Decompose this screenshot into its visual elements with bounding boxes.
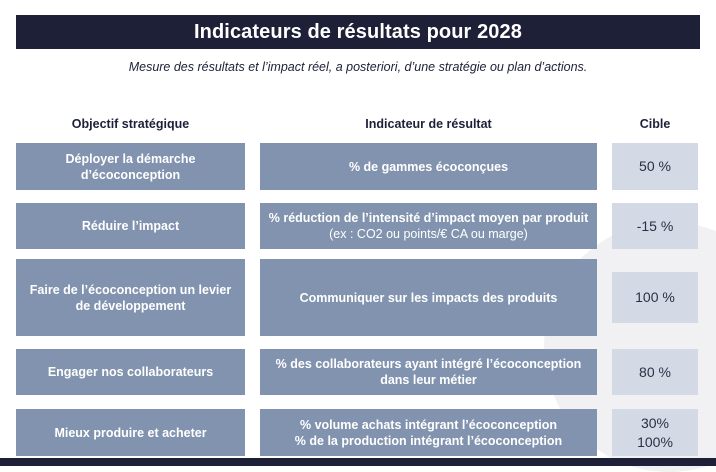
indicators-table: Déployer la démarche d’écoconception % d… xyxy=(0,0,716,466)
table-cell-target: -15 % xyxy=(612,203,698,249)
indicator-text: % réduction de l’intensité d’impact moye… xyxy=(269,211,588,225)
indicator-text: % des collaborateurs ayant intégré l’éco… xyxy=(268,356,589,388)
table-cell-indicator: % de gammes écoconçues xyxy=(260,143,597,190)
table-cell-target: 30% 100% xyxy=(612,409,698,456)
indicator-text: Communiquer sur les impacts des produits xyxy=(300,290,558,306)
bottom-strip xyxy=(0,458,716,466)
table-cell-indicator: % des collaborateurs ayant intégré l’éco… xyxy=(260,349,597,395)
table-cell-objective: Faire de l’écoconception un levier de dé… xyxy=(16,259,245,336)
table-cell-objective: Déployer la démarche d’écoconception xyxy=(16,143,245,190)
table-cell-target: 100 % xyxy=(612,272,698,323)
indicator-text: % volume achats intégrant l’écoconceptio… xyxy=(295,417,562,449)
indicator-note: (ex : CO2 ou points/€ CA ou marge) xyxy=(329,227,528,241)
table-cell-indicator: Communiquer sur les impacts des produits xyxy=(260,259,597,336)
table-cell-objective: Mieux produire et acheter xyxy=(16,409,245,456)
table-cell-objective: Engager nos collaborateurs xyxy=(16,349,245,395)
table-cell-indicator: % réduction de l’intensité d’impact moye… xyxy=(260,203,597,249)
table-cell-target: 80 % xyxy=(612,349,698,395)
slide-page: Indicateurs de résultats pour 2028 Mesur… xyxy=(0,0,716,466)
table-cell-indicator: % volume achats intégrant l’écoconceptio… xyxy=(260,409,597,456)
table-cell-target: 50 % xyxy=(612,143,698,190)
indicator-text: % de gammes écoconçues xyxy=(349,159,508,175)
table-cell-objective: Réduire l’impact xyxy=(16,203,245,249)
